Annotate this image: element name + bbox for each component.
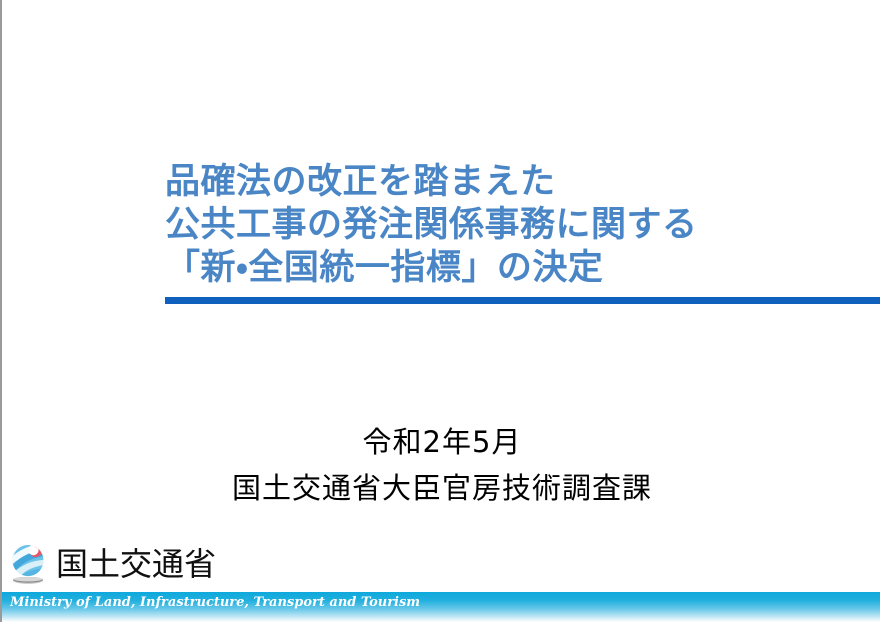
- footer-band: Ministry of Land, Infrastructure, Transp…: [2, 592, 880, 622]
- title-line-2: 公共工事の発注関係事務に関する: [165, 204, 865, 247]
- document-date: 令和2年5月: [2, 419, 880, 465]
- slide: 品確法の改正を踏まえた 公共工事の発注関係事務に関する 「新・全国統一指標」の決…: [0, 0, 880, 622]
- document-organization: 国土交通省大臣官房技術調査課: [2, 465, 880, 511]
- mlit-swirl-emblem-icon: [6, 542, 50, 586]
- ministry-name-ja: 国土交通省: [56, 547, 216, 581]
- title-underline-rule: [165, 297, 880, 304]
- document-meta: 令和2年5月 国土交通省大臣官房技術調査課: [2, 419, 880, 511]
- page-title: 品確法の改正を踏まえた 公共工事の発注関係事務に関する 「新・全国統一指標」の決…: [165, 161, 865, 290]
- ministry-name-en: Ministry of Land, Infrastructure, Transp…: [10, 595, 420, 611]
- title-line-1: 品確法の改正を踏まえた: [165, 161, 865, 204]
- footer: 国土交通省 Ministry of Land, Infrastructure, …: [2, 535, 880, 622]
- title-line-3: 「新・全国統一指標」の決定: [165, 247, 865, 290]
- ministry-logo: 国土交通省: [6, 542, 216, 586]
